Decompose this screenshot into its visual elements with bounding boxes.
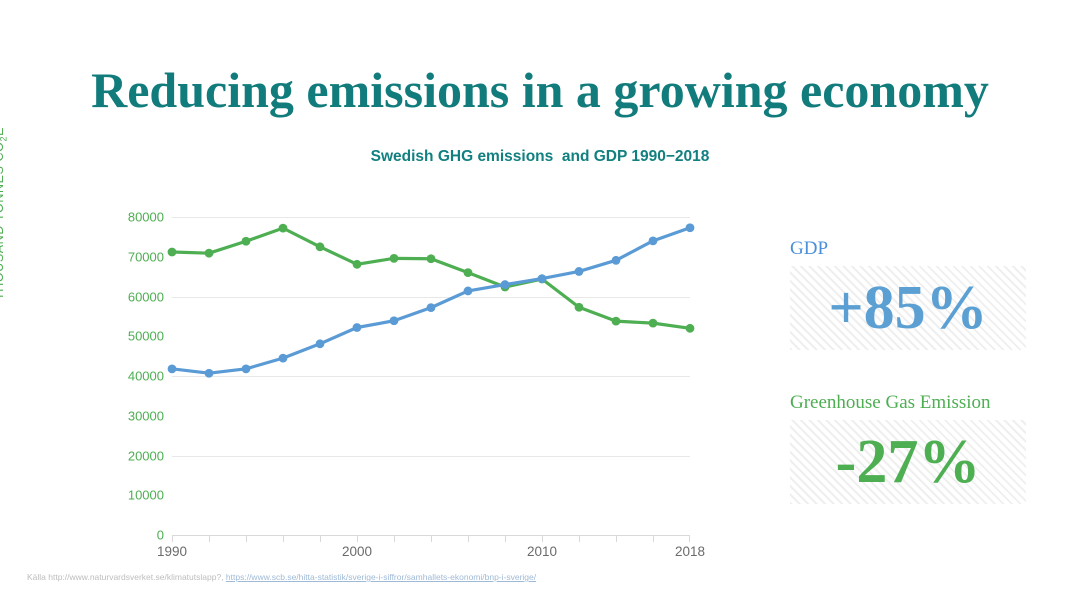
callout-ghg-value: -27% (836, 431, 981, 493)
series-point (575, 267, 584, 276)
series-point (575, 303, 584, 312)
x-tick-label: 2000 (342, 544, 372, 559)
x-tick-mark (653, 536, 654, 542)
x-tick-mark (283, 536, 284, 542)
callout-ghg-box: -27% (790, 420, 1026, 504)
callout-gdp-box: +85% (790, 266, 1026, 350)
plot-area (172, 217, 690, 535)
source-link[interactable]: https://www.scb.se/hitta-statistik/sveri… (226, 572, 536, 582)
series-point (427, 254, 436, 263)
y-axis-ticks: 0100002000030000400005000060000700008000… (82, 217, 164, 535)
callout-ghg-label: Greenhouse Gas Emission (790, 392, 1026, 414)
footnote-prefix: Källa http://www.naturvardsverket.se/kli… (27, 572, 224, 582)
series-line (172, 228, 690, 373)
source-footnote: Källa http://www.naturvardsverket.se/kli… (27, 572, 536, 582)
x-tick-mark (616, 536, 617, 542)
series-point (205, 249, 214, 258)
x-tick-mark (468, 536, 469, 542)
x-tick-mark (320, 536, 321, 542)
series-point (168, 364, 177, 373)
series-point (353, 260, 362, 269)
y-tick-label: 0 (157, 528, 164, 543)
chart-series-svg (172, 217, 690, 535)
series-point (168, 248, 177, 257)
y-tick-label: 80000 (128, 210, 164, 225)
series-point (686, 324, 695, 333)
series-point (427, 303, 436, 312)
x-tick-mark (394, 536, 395, 542)
series-point (390, 254, 399, 263)
x-tick-mark (505, 536, 506, 542)
x-tick-mark (209, 536, 210, 542)
y-tick-label: 40000 (128, 369, 164, 384)
series-point (686, 223, 695, 232)
callout-gdp-label: GDP (790, 238, 1026, 260)
line-chart: THOUSAND TONNES CO2E 0100002000030000400… (0, 0, 760, 608)
series-point (649, 236, 658, 245)
x-tick-mark (357, 536, 358, 542)
slide-canvas: Reducing emissions in a growing economy … (0, 0, 1080, 608)
series-point (205, 369, 214, 378)
series-point (316, 242, 325, 251)
x-axis-ticks: 1990200020102018 (172, 536, 690, 564)
x-tick-mark (689, 536, 690, 542)
y-tick-label: 60000 (128, 289, 164, 304)
series-point (538, 274, 547, 283)
series-point (464, 268, 473, 277)
y-tick-label: 70000 (128, 249, 164, 264)
x-tick-mark (172, 536, 173, 542)
series-point (390, 316, 399, 325)
x-tick-mark (542, 536, 543, 542)
series-point (242, 237, 251, 246)
y-tick-label: 20000 (128, 448, 164, 463)
x-tick-mark (246, 536, 247, 542)
x-tick-label: 1990 (157, 544, 187, 559)
series-point (242, 364, 251, 373)
callout-greenhouse-gas-emission: Greenhouse Gas Emission -27% (790, 392, 1026, 504)
series-point (464, 287, 473, 296)
y-tick-label: 10000 (128, 488, 164, 503)
series-point (279, 224, 288, 233)
x-tick-label: 2010 (527, 544, 557, 559)
series-point (501, 280, 510, 289)
y-tick-label: 30000 (128, 408, 164, 423)
x-tick-mark (579, 536, 580, 542)
y-tick-label: 50000 (128, 329, 164, 344)
series-point (612, 317, 621, 326)
series-point (612, 256, 621, 265)
series-point (649, 319, 658, 328)
callout-gdp: GDP +85% (790, 238, 1026, 350)
x-tick-label: 2018 (675, 544, 705, 559)
series-point (279, 354, 288, 363)
callout-gdp-value: +85% (828, 277, 987, 339)
series-point (353, 323, 362, 332)
y-axis-title: THOUSAND TONNES CO2E (0, 127, 9, 300)
series-point (316, 339, 325, 348)
x-tick-mark (431, 536, 432, 542)
